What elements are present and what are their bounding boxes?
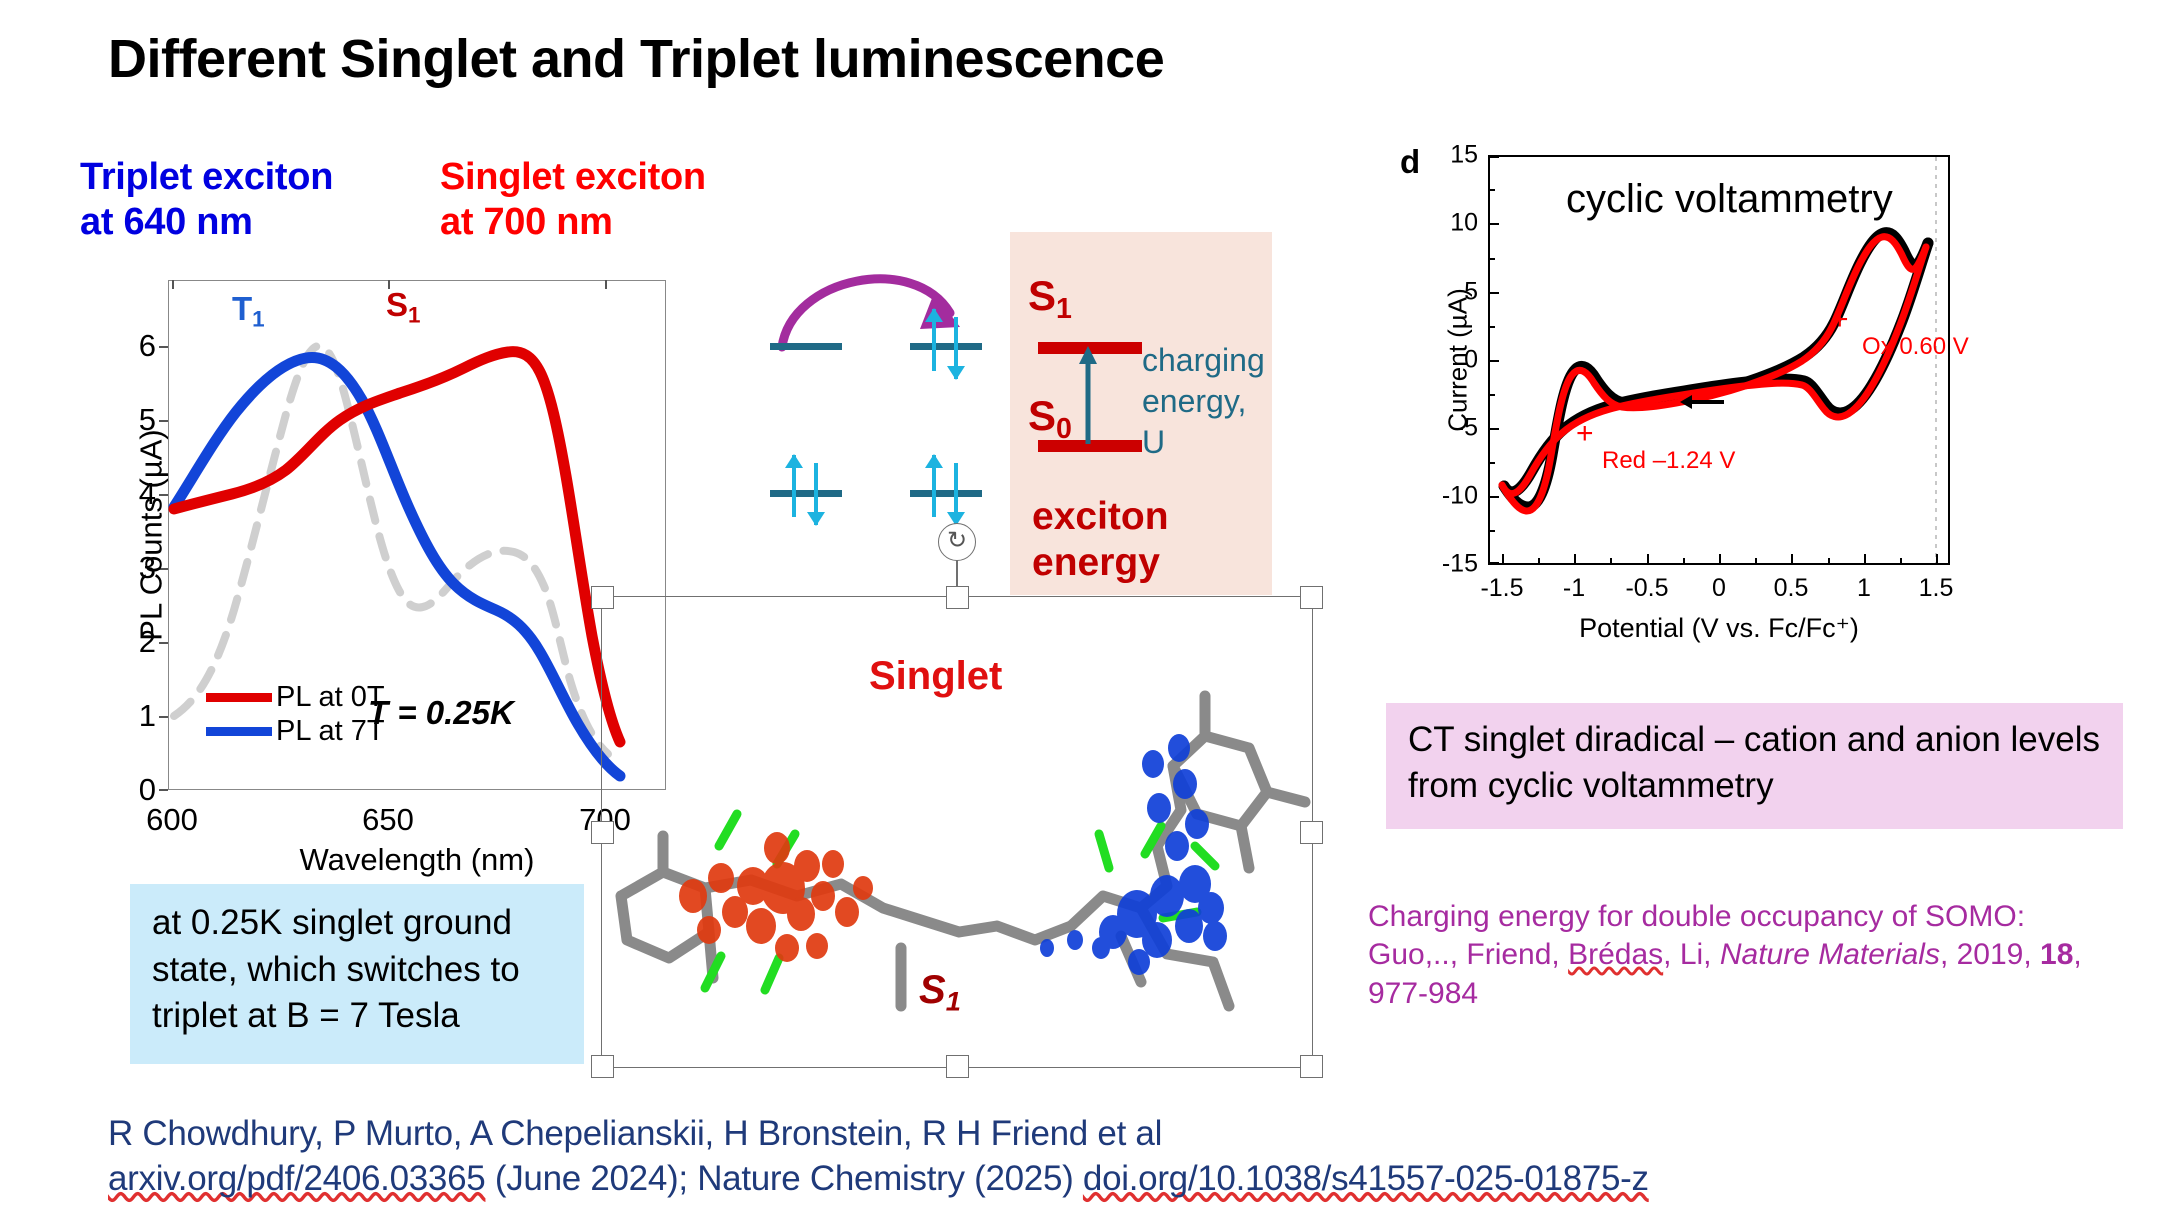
exciton-energy-label: exciton energy — [1032, 494, 1169, 586]
callout-triplet-exciton: Triplet exciton at 640 nm — [80, 155, 333, 245]
pl-chart-legend: PL at 0T PL at 7T — [206, 680, 385, 748]
cv-ytickmark-minor — [1488, 530, 1495, 532]
citation-purple-line2: Guo,.., Friend, Brédas, Li, Nature Mater… — [1368, 936, 2158, 974]
charging-energy-arrow-icon — [1074, 344, 1104, 448]
cv-ytickmark-m10 — [1488, 496, 1499, 498]
resize-handle-top-center[interactable] — [946, 586, 969, 609]
citation-purple-line3: 977-984 — [1368, 975, 2158, 1013]
label-s1-state: S1 — [1028, 272, 1072, 326]
cv-ytickmark-5 — [1488, 292, 1499, 294]
cv-ytickmark-minor — [1488, 258, 1495, 260]
cv-xtickmark-minor — [1538, 558, 1540, 565]
pl-y-axis-label: PL Counts (µA) — [134, 429, 170, 640]
mo-level-lower-right — [910, 490, 982, 497]
cv-xtickmark-m1.0 — [1574, 554, 1576, 565]
callout-singlet-line2: at 700 nm — [440, 200, 706, 245]
legend-swatch-0t — [206, 693, 272, 702]
spin-up-arrow-lower-right — [932, 455, 936, 517]
cv-xtickmark-m0.5 — [1647, 554, 1649, 565]
cv-ytickmark-10 — [1488, 223, 1499, 225]
cv-xtickmark-minor — [1610, 558, 1612, 565]
pl-ytick-1: 1 — [139, 698, 156, 734]
spin-down-arrow-lower-right — [954, 463, 958, 525]
citation-bottom-line1: R Chowdhury, P Murto, A Chepelianskii, H… — [108, 1112, 2008, 1157]
citation-bottom-line2: arxiv.org/pdf/2406.03365 (June 2024); Na… — [108, 1157, 2008, 1202]
cv-ytickmark-minor — [1488, 394, 1495, 396]
cv-ytickmark-m15 — [1488, 562, 1499, 564]
resize-handle-bottom-left[interactable] — [591, 1055, 614, 1078]
resize-handle-bottom-right[interactable] — [1300, 1055, 1323, 1078]
cv-xtickmark-minor — [1828, 558, 1830, 565]
cv-y-axis-label: Current (µA) — [1442, 288, 1473, 432]
spin-up-arrow-upper-right — [932, 309, 936, 371]
pl-xtickmark-700 — [605, 280, 607, 289]
cv-ytickmark-minor — [1488, 326, 1495, 328]
pl-ytickmark-2 — [159, 642, 168, 644]
cv-marker-red: + — [1576, 417, 1594, 451]
cv-marker-ox: + — [1831, 303, 1849, 337]
cv-xtick-1.5: 1.5 — [1919, 574, 1954, 603]
pl-xtick-650: 650 — [362, 802, 414, 838]
mo-level-upper-right — [910, 343, 982, 350]
cv-ytick-15: 15 — [1450, 141, 1478, 170]
page-title: Different Singlet and Triplet luminescen… — [108, 28, 1164, 90]
legend-item: PL at 7T — [206, 714, 385, 748]
callout-singlet-exciton: Singlet exciton at 700 nm — [440, 155, 706, 245]
cv-xtick-0.5: 0.5 — [1774, 574, 1809, 603]
cv-annotation-ox: Ox 0.60 V — [1862, 333, 1969, 361]
cyclic-voltammetry-chart: d cyclic voltammetry 15 10 5 0 -5 -10 -1… — [1488, 155, 1950, 565]
resize-handle-middle-right[interactable] — [1300, 821, 1323, 844]
spin-down-arrow-upper-right — [954, 317, 958, 379]
cv-ytickmark-minor — [1488, 189, 1495, 191]
resize-handle-top-left[interactable] — [591, 586, 614, 609]
cv-xtick-m1.5: -1.5 — [1480, 574, 1523, 603]
cv-xtickmark-m1.5 — [1502, 554, 1504, 565]
cv-xtickmark-minor — [1900, 558, 1902, 565]
citation-purple-line1: Charging energy for double occupancy of … — [1368, 898, 2158, 936]
note-pink-ct-singlet-diradical: CT singlet diradical – cation and anion … — [1386, 703, 2123, 829]
pl-ytickmark-1 — [159, 716, 168, 718]
cv-x-axis-label: Potential (V vs. Fc/Fc⁺) — [1579, 613, 1859, 644]
resize-handle-bottom-center[interactable] — [946, 1055, 969, 1078]
mo-level-upper-left — [770, 343, 842, 350]
charging-energy-label: charging energy, U — [1142, 340, 1272, 463]
cv-ytick-m10: -10 — [1442, 482, 1478, 511]
legend-item: PL at 0T — [206, 680, 385, 714]
electron-transfer-arrow-icon — [764, 225, 1024, 355]
spin-up-arrow-lower-left — [792, 455, 796, 517]
cv-ytick-10: 10 — [1450, 209, 1478, 238]
cv-xtickmark-1.0 — [1864, 554, 1866, 565]
cv-xtickmark-1.5 — [1936, 554, 1938, 565]
pl-ytickmark-0 — [159, 789, 168, 791]
cv-xtickmark-0.0 — [1719, 554, 1721, 565]
pl-temperature-annotation: T = 0.25K — [368, 694, 514, 732]
cv-xtickmark-minor — [1755, 558, 1757, 565]
cv-ytickmark-m5 — [1488, 428, 1499, 430]
label-s0-state: S0 — [1028, 392, 1072, 446]
cv-ytickmark-0 — [1488, 360, 1499, 362]
legend-swatch-7t — [206, 727, 272, 736]
citation-bottom: R Chowdhury, P Murto, A Chepelianskii, H… — [108, 1112, 2008, 1202]
resize-handle-middle-left[interactable] — [591, 821, 614, 844]
callout-triplet-line1: Triplet exciton — [80, 155, 333, 200]
cv-xtick-m1.0: -1 — [1563, 574, 1585, 603]
cv-panel-letter: d — [1400, 143, 1420, 181]
cv-xtick-m0.5: -0.5 — [1625, 574, 1668, 603]
rotate-icon[interactable]: ↻ — [938, 523, 976, 561]
cv-xtickmark-0.5 — [1791, 554, 1793, 565]
pl-xtick-600: 600 — [146, 802, 198, 838]
cv-ytick-m15: -15 — [1442, 550, 1478, 579]
cv-annotation-red: Red –1.24 V — [1602, 447, 1735, 475]
arxiv-link[interactable]: arxiv.org/pdf/2406.03365 — [108, 1159, 485, 1198]
exciton-line2: energy — [1032, 540, 1169, 586]
pl-xtickmark-600 — [172, 280, 174, 289]
pl-annotation-t1: T1 — [232, 290, 265, 332]
image-selection-frame[interactable]: ↻ — [601, 596, 1313, 1068]
pl-ytickmark-5 — [159, 420, 168, 422]
spin-down-arrow-lower-left — [814, 463, 818, 525]
citation-purple: Charging energy for double occupancy of … — [1368, 898, 2158, 1013]
cv-ytickmark-minor — [1488, 462, 1495, 464]
pl-ytickmark-6 — [159, 346, 168, 348]
callout-singlet-line1: Singlet exciton — [440, 155, 706, 200]
pl-annotation-s1: S1 — [386, 286, 421, 328]
exciton-line1: exciton — [1032, 494, 1169, 540]
pl-x-axis-label: Wavelength (nm) — [300, 842, 535, 878]
callout-triplet-line2: at 640 nm — [80, 200, 333, 245]
cv-xtick-0.0: 0 — [1712, 574, 1726, 603]
pl-ytick-6: 6 — [139, 328, 156, 364]
pl-spectrum-chart: 0 1 2 3 4 5 6 600 650 700 PL Counts (µA)… — [168, 280, 666, 790]
charging-line1: charging — [1142, 340, 1272, 381]
charging-line2: energy, U — [1142, 381, 1272, 463]
note-blue-singlet-ground-state: at 0.25K singlet ground state, which swi… — [130, 884, 584, 1064]
resize-handle-top-right[interactable] — [1300, 586, 1323, 609]
exciton-energy-panel: S1 S0 charging energy, U exciton energy — [1010, 232, 1272, 595]
doi-link[interactable]: doi.org/10.1038/s41557-025-01875-z — [1083, 1159, 1649, 1198]
mo-level-lower-left — [770, 490, 842, 497]
cv-xtickmark-minor — [1683, 558, 1685, 565]
cv-ytickmark-15 — [1488, 156, 1499, 158]
cv-xtick-1.0: 1 — [1857, 574, 1871, 603]
